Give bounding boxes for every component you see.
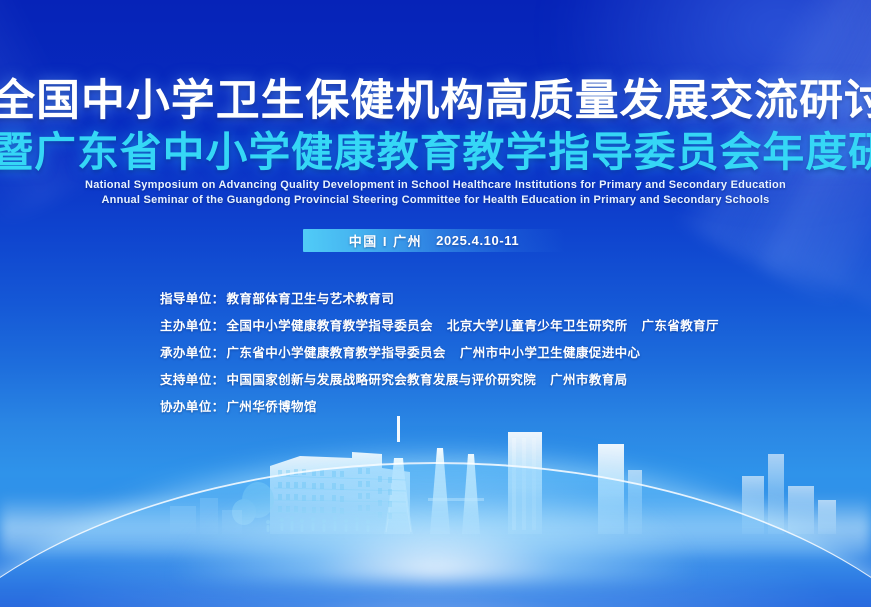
organization-label: 协办单位： <box>160 396 225 415</box>
organization-values: 中国国家创新与发展战略研究会教育发展与评价研究院 广州市教育局 <box>227 369 628 388</box>
organization-row: 主办单位： 全国中小学健康教育教学指导委员会 北京大学儿童青少年卫生研究所 广东… <box>160 315 820 342</box>
organization-row: 协办单位： 广州华侨博物馆 <box>160 396 820 423</box>
organization-label: 承办单位： <box>160 342 225 361</box>
organization-label: 支持单位： <box>160 369 225 388</box>
organization-name: 广州华侨博物馆 <box>227 396 317 415</box>
organization-row: 支持单位： 中国国家创新与发展战略研究会教育发展与评价研究院 广州市教育局 <box>160 369 820 396</box>
conference-poster: 全国中小学卫生保健机构高质量发展交流研讨活动 暨广东省中小学健康教育教学指导委员… <box>0 0 871 607</box>
organization-values: 广州华侨博物馆 <box>227 396 317 415</box>
poster-title-line-1: 全国中小学卫生保健机构高质量发展交流研讨活动 <box>0 78 871 124</box>
event-date: 2025.4.10-11 <box>436 233 519 248</box>
organization-row: 承办单位： 广东省中小学健康教育教学指导委员会 广州市中小学卫生健康促进中心 <box>160 342 820 369</box>
poster-subtitle-english-line-2: Annual Seminar of the Guangdong Provinci… <box>0 194 871 206</box>
poster-title-line-2: 暨广东省中小学健康教育教学指导委员会年度研讨活动 <box>0 130 871 174</box>
poster-subtitle-english-line-1: National Symposium on Advancing Quality … <box>0 179 871 191</box>
organization-name: 广东省中小学健康教育教学指导委员会 <box>227 342 446 361</box>
organization-label: 指导单位： <box>160 288 225 307</box>
organization-name: 中国国家创新与发展战略研究会教育发展与评价研究院 <box>227 369 537 388</box>
organization-name: 北京大学儿童青少年卫生研究所 <box>447 315 628 334</box>
organization-values: 全国中小学健康教育教学指导委员会 北京大学儿童青少年卫生研究所 广东省教育厅 <box>227 315 719 334</box>
organization-name: 广州市中小学卫生健康促进中心 <box>460 342 641 361</box>
organization-row: 指导单位： 教育部体育卫生与艺术教育司 <box>160 288 820 315</box>
event-location: 中国 I 广州 <box>349 231 422 250</box>
organization-name: 全国中小学健康教育教学指导委员会 <box>227 315 433 334</box>
organization-name: 教育部体育卫生与艺术教育司 <box>227 288 395 307</box>
organization-values: 广东省中小学健康教育教学指导委员会 广州市中小学卫生健康促进中心 <box>227 342 641 361</box>
organization-name: 广州市教育局 <box>550 369 627 388</box>
poster-content: 全国中小学卫生保健机构高质量发展交流研讨活动 暨广东省中小学健康教育教学指导委员… <box>0 0 871 607</box>
organization-name: 广东省教育厅 <box>642 315 719 334</box>
organization-label: 主办单位： <box>160 315 225 334</box>
organization-list: 指导单位： 教育部体育卫生与艺术教育司 主办单位： 全国中小学健康教育教学指导委… <box>160 288 820 423</box>
event-banner: 中国 I 广州 2025.4.10-11 <box>303 230 565 251</box>
organization-values: 教育部体育卫生与艺术教育司 <box>227 288 395 307</box>
